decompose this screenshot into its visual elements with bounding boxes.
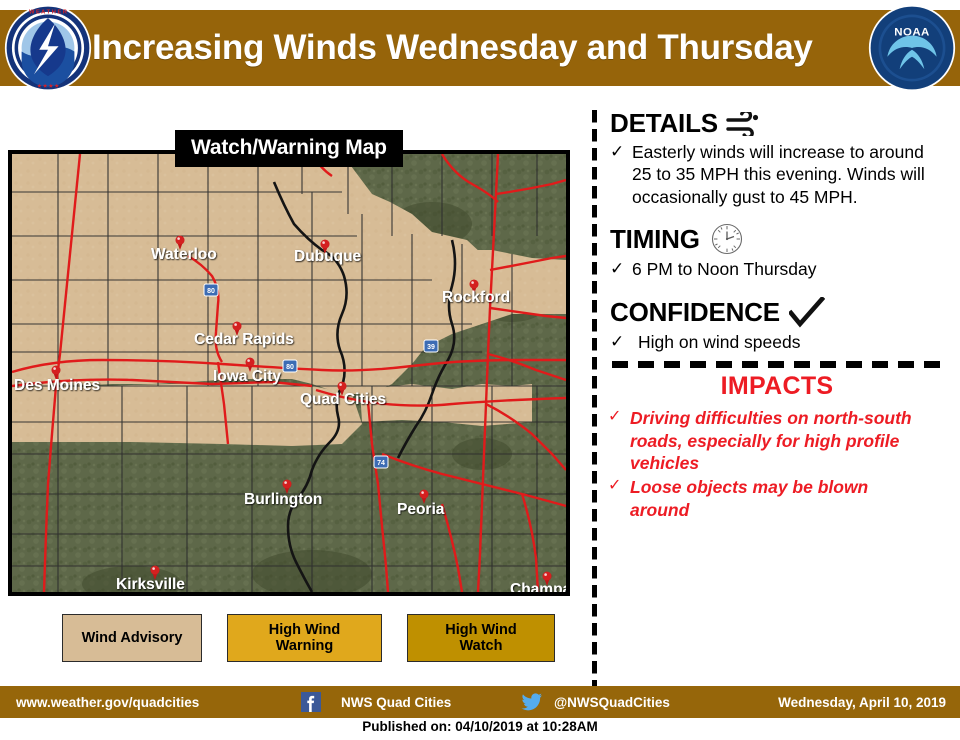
footer-date: Wednesday, April 10, 2019: [778, 695, 946, 710]
twitter-icon[interactable]: [521, 693, 543, 711]
check-mark-icon: ✓: [608, 476, 630, 497]
impact-text: Driving difficulties on north-south road…: [630, 407, 930, 475]
footer-twitter-handle[interactable]: @NWSQuadCities: [554, 695, 670, 710]
footer-website-link[interactable]: www.weather.gov/quadcities: [16, 695, 199, 710]
city-label-des-moines: Des Moines: [14, 377, 100, 394]
check-mark-icon: ✓: [610, 331, 632, 353]
check-mark-icon: ✓: [608, 407, 630, 428]
check-icon: [789, 297, 825, 329]
nws-logo: W E A T H E R ★ ★ ★ ★: [4, 4, 92, 92]
svg-text:80: 80: [286, 364, 294, 371]
details-bullet: ✓ Easterly winds will increase to around…: [610, 141, 944, 208]
impact-text: Loose objects may be blown around: [630, 476, 930, 522]
legend-wind-advisory[interactable]: Wind Advisory: [62, 614, 202, 662]
details-heading-row: DETAILS: [610, 108, 956, 139]
confidence-text: High on wind speeds: [632, 331, 800, 353]
legend-high-wind-watch-label: High WindWatch: [445, 622, 517, 654]
city-label-kirksville: Kirksville: [116, 576, 185, 592]
svg-text:★ ★ ★ ★: ★ ★ ★ ★: [37, 84, 59, 90]
check-mark-icon: ✓: [610, 141, 632, 163]
timing-text: 6 PM to Noon Thursday: [632, 258, 817, 280]
city-label-dubuque: Dubuque: [294, 248, 362, 265]
forecast-details-panel: DETAILS ✓ Easterly winds will increase t…: [608, 108, 956, 686]
city-label-burlington: Burlington: [244, 491, 322, 508]
dashed-separator: [612, 361, 950, 368]
legend-high-wind-warning[interactable]: High WindWarning: [227, 614, 382, 662]
vertical-dashed-divider: [592, 110, 597, 686]
legend-high-wind-warning-label: High WindWarning: [269, 622, 341, 654]
city-label-waterloo: Waterloo: [151, 246, 217, 263]
details-text: Easterly winds will increase to around 2…: [632, 141, 944, 208]
svg-text:W E A T H E R: W E A T H E R: [29, 10, 68, 16]
impacts-title: IMPACTS: [608, 372, 946, 401]
facebook-icon[interactable]: [301, 692, 321, 712]
svg-text:80: 80: [207, 288, 215, 295]
impact-item: ✓ Driving difficulties on north-south ro…: [608, 407, 956, 475]
city-label-iowa-city: Iowa City: [213, 368, 281, 385]
map-canvas: 80 80 39 74: [12, 154, 566, 592]
header-banner: W E A T H E R ★ ★ ★ ★ Increasing Winds W…: [0, 0, 960, 96]
map-title-badge: Watch/Warning Map: [175, 130, 403, 167]
svg-text:NOAA: NOAA: [894, 27, 929, 39]
svg-text:74: 74: [377, 460, 385, 467]
confidence-heading-row: CONFIDENCE: [610, 297, 956, 329]
map-legend: Wind Advisory High WindWarning High Wind…: [62, 614, 562, 666]
impact-item: ✓ Loose objects may be blown around: [608, 476, 956, 522]
city-label-cedar-rapids: Cedar Rapids: [194, 331, 294, 348]
timing-bullet: ✓ 6 PM to Noon Thursday: [610, 258, 956, 280]
watch-warning-map[interactable]: 80 80 39 74: [8, 150, 570, 596]
published-timestamp: Published on: 04/10/2019 at 10:28AM: [0, 719, 960, 734]
confidence-heading: CONFIDENCE: [610, 297, 780, 328]
svg-text:39: 39: [427, 344, 435, 351]
footer-bar: www.weather.gov/quadcities NWS Quad Citi…: [0, 686, 960, 718]
city-label-quad-cities: Quad Cities: [300, 391, 386, 408]
timing-heading-row: TIMING: [610, 222, 956, 256]
check-mark-icon: ✓: [610, 258, 632, 280]
clock-icon: [710, 222, 744, 256]
timing-heading: TIMING: [610, 224, 700, 255]
confidence-bullet: ✓ High on wind speeds: [610, 331, 956, 353]
city-label-champaign: Champai: [510, 581, 566, 592]
page-title: Increasing Winds Wednesday and Thursday: [92, 16, 868, 80]
noaa-logo: NOAA: [868, 4, 956, 92]
city-label-rockford: Rockford: [442, 289, 510, 306]
wind-icon: [726, 112, 760, 136]
legend-high-wind-watch[interactable]: High WindWatch: [407, 614, 555, 662]
legend-wind-advisory-label: Wind Advisory: [82, 630, 183, 646]
details-heading: DETAILS: [610, 108, 718, 139]
city-label-peoria: Peoria: [397, 501, 445, 518]
footer-facebook-name[interactable]: NWS Quad Cities: [341, 695, 451, 710]
